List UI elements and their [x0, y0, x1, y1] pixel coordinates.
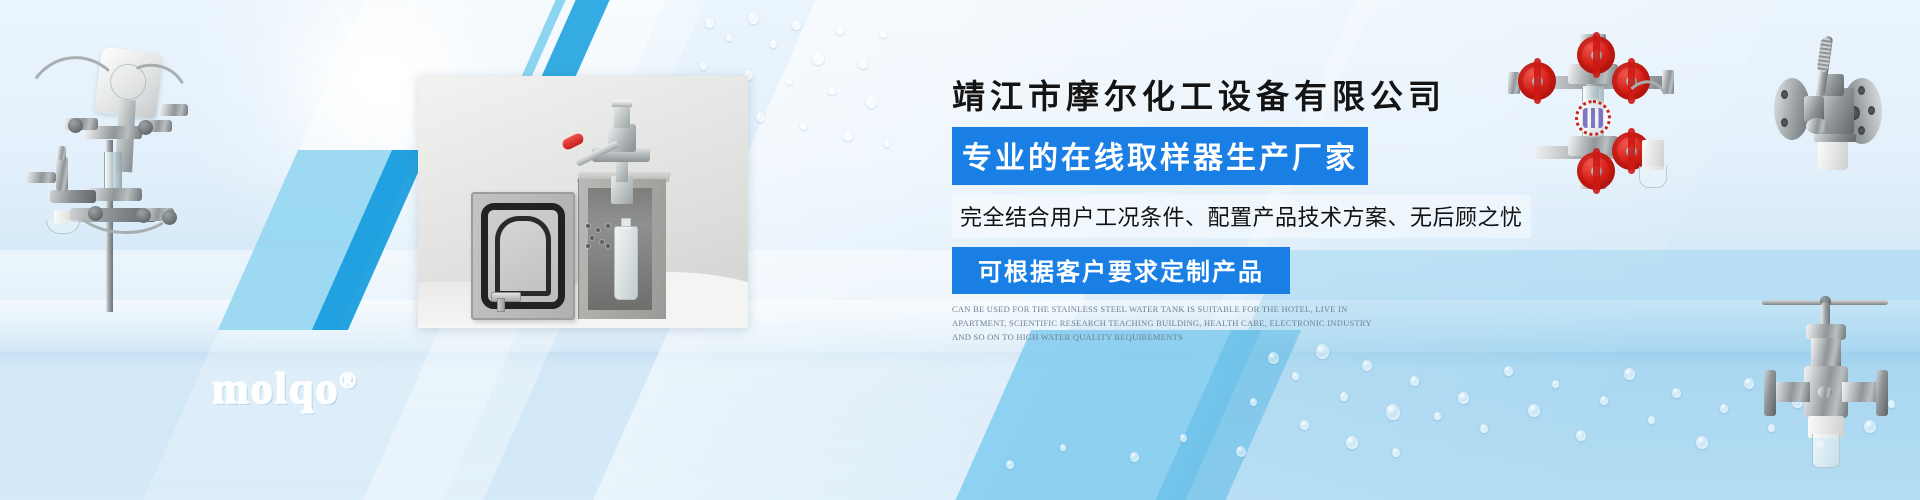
water-droplet — [1006, 460, 1014, 469]
equipment-lever-valve — [1756, 30, 1906, 195]
watermark-text: molqo — [212, 364, 339, 413]
flange-left — [1764, 370, 1776, 416]
sample-bottle — [614, 226, 638, 300]
vent-hole — [590, 236, 594, 240]
promotional-banner: 靖江市摩尔化工设备有限公司 专业的在线取样器生产厂家 完全结合用户工况条件、配置… — [0, 0, 1920, 500]
vent-holes — [586, 224, 612, 250]
water-droplet — [1386, 404, 1400, 420]
valve-neck — [616, 160, 628, 182]
water-droplet — [858, 58, 868, 69]
water-droplet — [1346, 436, 1358, 449]
valve-lever-grip — [561, 132, 586, 152]
ptfe-fitting — [1818, 142, 1848, 170]
valve-cap — [612, 100, 632, 107]
equipment-vertical-sampling-valve — [1750, 282, 1910, 482]
bolt-hole — [1781, 90, 1788, 99]
watermark-logo: molqo® — [212, 363, 356, 414]
water-droplet — [1458, 392, 1469, 404]
water-droplet — [1060, 444, 1066, 451]
custom-product-badge: 可根据客户要求定制产品 — [952, 247, 1290, 294]
water-droplet — [1480, 424, 1488, 433]
diagonal-stripe — [1129, 330, 1301, 500]
door-window — [495, 216, 551, 296]
sun-ray — [340, 5, 421, 155]
vent-hole — [606, 224, 610, 228]
subline: 完全结合用户工况条件、配置产品技术方案、无后顾之忧 — [952, 195, 1531, 238]
water-droplet — [700, 62, 707, 70]
vent-hole — [586, 244, 590, 248]
collection-cup — [1639, 166, 1667, 188]
lever-grip — [1817, 37, 1833, 72]
water-droplet — [770, 40, 777, 48]
water-droplet — [1576, 430, 1586, 441]
door-latch-handle — [497, 298, 505, 312]
water-droplet — [1292, 372, 1299, 380]
water-droplet — [1410, 376, 1419, 386]
sun-ray — [352, 0, 409, 189]
water-droplet — [1362, 360, 1372, 371]
bonnet — [1811, 338, 1841, 368]
pipe-left — [1772, 382, 1810, 402]
bolt-hole — [1858, 126, 1865, 135]
water-droplet — [1648, 416, 1655, 424]
water-droplet — [812, 52, 824, 65]
water-droplet — [836, 26, 844, 35]
banner-copy: 靖江市摩尔化工设备有限公司 专业的在线取样器生产厂家 完全结合用户工况条件、配置… — [952, 78, 1592, 345]
water-droplet — [1528, 404, 1540, 417]
sun-ray — [346, 0, 415, 206]
water-droplet — [1180, 434, 1187, 442]
water-droplet — [1624, 368, 1635, 380]
water-droplet — [756, 112, 765, 122]
diagonal-stripe — [929, 330, 1261, 500]
sun-ray — [336, 0, 424, 162]
bolt-hole — [1868, 106, 1875, 115]
sun-ray — [361, 0, 399, 172]
water-droplet — [1434, 412, 1441, 420]
sun-ray — [374, 0, 385, 162]
tubing — [71, 170, 177, 236]
water-droplet — [786, 78, 792, 85]
product-photo — [418, 76, 748, 328]
diagonal-stripe — [312, 150, 428, 330]
water-droplet — [1236, 446, 1246, 457]
headline: 专业的在线取样器生产厂家 — [952, 127, 1368, 185]
water-droplet — [800, 122, 807, 130]
water-droplet — [1600, 396, 1608, 405]
water-droplet — [866, 96, 877, 108]
vent-hole — [596, 228, 600, 232]
bolt-hole — [1781, 118, 1788, 127]
water-droplet — [1696, 436, 1708, 449]
water-droplet — [1340, 392, 1348, 401]
valve-stack — [614, 106, 630, 128]
water-droplet — [792, 20, 801, 30]
sun-ray — [377, 5, 384, 155]
water-droplet — [1392, 448, 1400, 457]
vent-hole — [586, 224, 590, 228]
handwheel-red — [1577, 36, 1615, 74]
water-droplet — [1720, 404, 1728, 413]
registered-trademark-icon: ® — [339, 367, 355, 392]
water-droplet — [748, 12, 759, 24]
water-droplet — [880, 30, 887, 38]
water-droplet — [828, 86, 836, 95]
fine-print: CAN BE USED FOR THE STAINLESS STEEL WATE… — [952, 303, 1372, 344]
sun-ray — [347, 0, 414, 186]
water-droplet — [1672, 388, 1681, 398]
body-marking — [1818, 386, 1832, 398]
water-droplet — [726, 34, 732, 41]
water-droplet — [1250, 398, 1257, 406]
vent-hole — [600, 240, 604, 244]
pipe-right — [1842, 382, 1880, 402]
bolt-hole — [1858, 86, 1865, 95]
sample-tube — [1812, 434, 1840, 468]
sampler-valve-head — [586, 100, 660, 180]
flange-right — [1876, 370, 1888, 416]
water-droplet — [1300, 420, 1309, 430]
collection-cup — [46, 220, 80, 234]
equipment-left-pole-sampler — [10, 22, 200, 312]
water-droplet — [1316, 344, 1329, 359]
water-droplet — [705, 18, 714, 28]
diagonal-stripe — [218, 150, 418, 330]
vent-hole — [606, 244, 610, 248]
water-droplet — [843, 130, 853, 141]
water-droplet — [884, 140, 890, 147]
mount-bracket — [1814, 134, 1856, 142]
cabinet-door — [471, 192, 575, 320]
water-droplet — [1552, 380, 1559, 388]
water-droplet — [1268, 352, 1279, 364]
door-latch — [491, 292, 521, 302]
company-name: 靖江市摩尔化工设备有限公司 — [952, 78, 1592, 118]
water-droplet — [1504, 366, 1513, 376]
water-droplet — [1130, 452, 1139, 462]
indicator-dial — [1806, 118, 1828, 134]
